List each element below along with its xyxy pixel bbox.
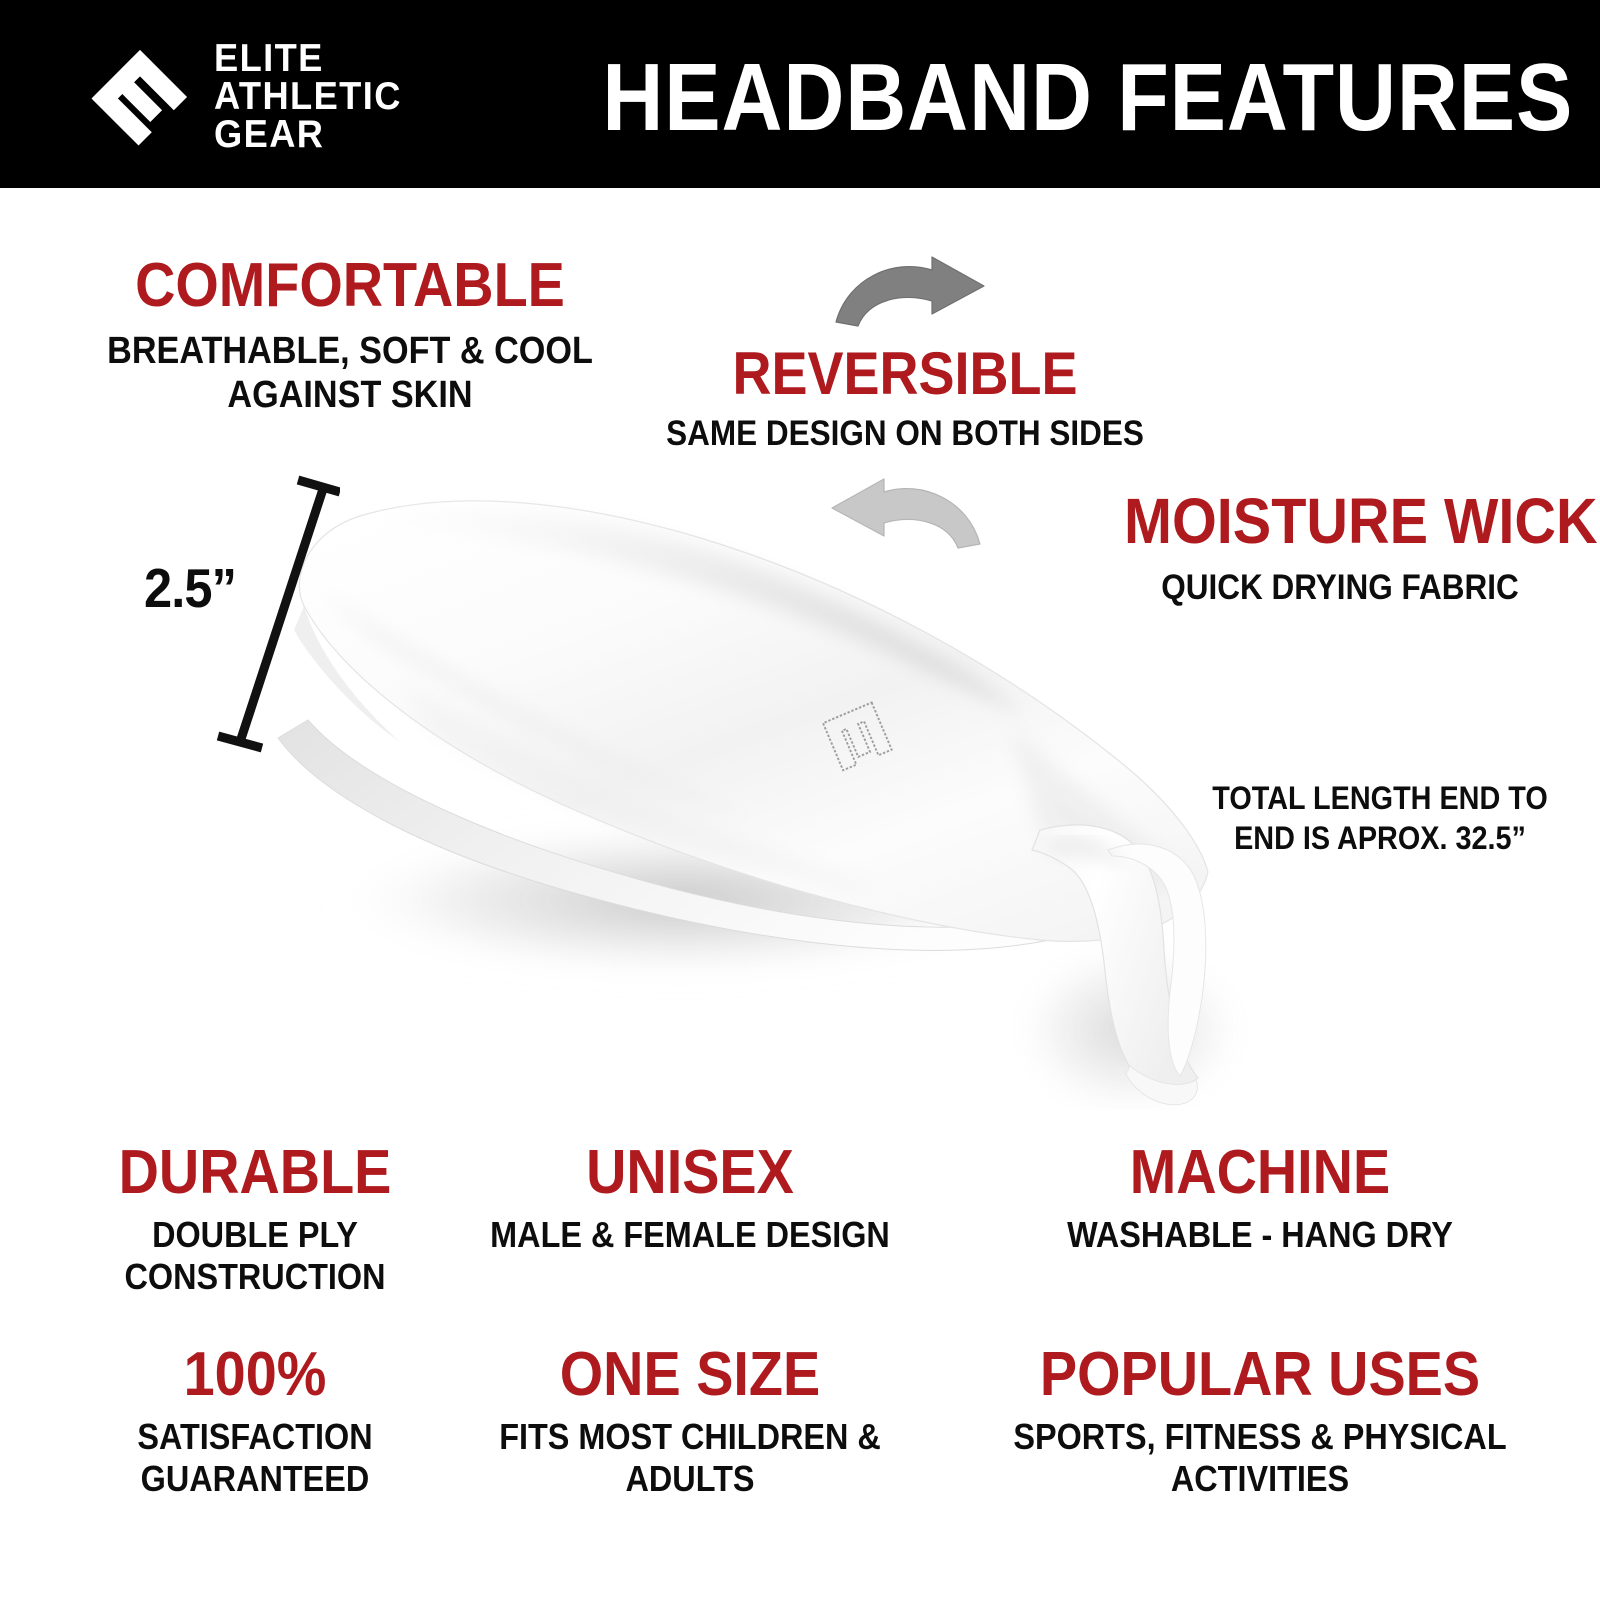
brand-logo-block: ELITE ATHLETIC GEAR: [88, 40, 416, 155]
feature-popular-uses-subtitle: SPORTS, FITNESS & PHYSICAL ACTIVITIES: [981, 1416, 1539, 1500]
feature-unisex-title: UNISEX: [465, 1143, 915, 1204]
feature-durable: DURABLE DOUBLE PLY CONSTRUCTION: [45, 1143, 465, 1297]
feature-popular-uses-title: POPULAR USES: [981, 1345, 1539, 1406]
brand-line-3: GEAR: [214, 116, 402, 154]
brand-line-2: ATHLETIC: [214, 78, 402, 116]
header-bar: ELITE ATHLETIC GEAR HEADBAND FEATURES: [0, 0, 1600, 188]
curved-arrow-right-icon: [828, 256, 988, 328]
white-tie-back-headband-photo: [250, 470, 1260, 1110]
feature-durable-title: DURABLE: [66, 1143, 444, 1204]
feature-satisfaction: 100% SATISFACTION GUARANTEED: [45, 1345, 465, 1499]
feature-comfortable-subtitle: BREATHABLE, SOFT & COOL AGAINST SKIN: [62, 329, 638, 417]
feature-comfortable-title: COMFORTABLE: [62, 256, 638, 317]
feature-reversible-title: REVERSIBLE: [640, 345, 1171, 404]
total-length-note: TOTAL LENGTH END TO END IS APROX. 32.5”: [1200, 779, 1560, 858]
product-image: [250, 470, 1260, 1110]
brand-line-1: ELITE: [214, 40, 402, 78]
feature-one-size: ONE SIZE FITS MOST CHILDREN & ADULTS: [440, 1345, 940, 1499]
feature-reversible: REVERSIBLE SAME DESIGN ON BOTH SIDES: [610, 345, 1200, 454]
feature-machine-subtitle: WASHABLE - HANG DRY: [981, 1214, 1539, 1256]
feature-comfortable: COMFORTABLE BREATHABLE, SOFT & COOL AGAI…: [30, 256, 670, 417]
feature-unisex: UNISEX MALE & FEMALE DESIGN: [440, 1143, 940, 1256]
feature-reversible-subtitle: SAME DESIGN ON BOTH SIDES: [640, 414, 1171, 455]
width-measurement-label: 2.5”: [144, 556, 236, 620]
feature-satisfaction-subtitle: SATISFACTION GUARANTEED: [66, 1416, 444, 1500]
elite-athletic-gear-diamond-e-logo: [88, 45, 192, 149]
feature-popular-uses: POPULAR USES SPORTS, FITNESS & PHYSICAL …: [950, 1345, 1570, 1499]
feature-satisfaction-title: 100%: [66, 1345, 444, 1406]
feature-unisex-subtitle: MALE & FEMALE DESIGN: [465, 1214, 915, 1256]
feature-one-size-title: ONE SIZE: [465, 1345, 915, 1406]
feature-one-size-subtitle: FITS MOST CHILDREN & ADULTS: [465, 1416, 915, 1500]
feature-durable-subtitle: DOUBLE PLY CONSTRUCTION: [66, 1214, 444, 1298]
feature-machine-washable: MACHINE WASHABLE - HANG DRY: [950, 1143, 1570, 1256]
page-title: HEADBAND FEATURES: [602, 50, 1517, 146]
feature-machine-title: MACHINE: [981, 1143, 1539, 1204]
brand-wordmark: ELITE ATHLETIC GEAR: [214, 40, 416, 155]
